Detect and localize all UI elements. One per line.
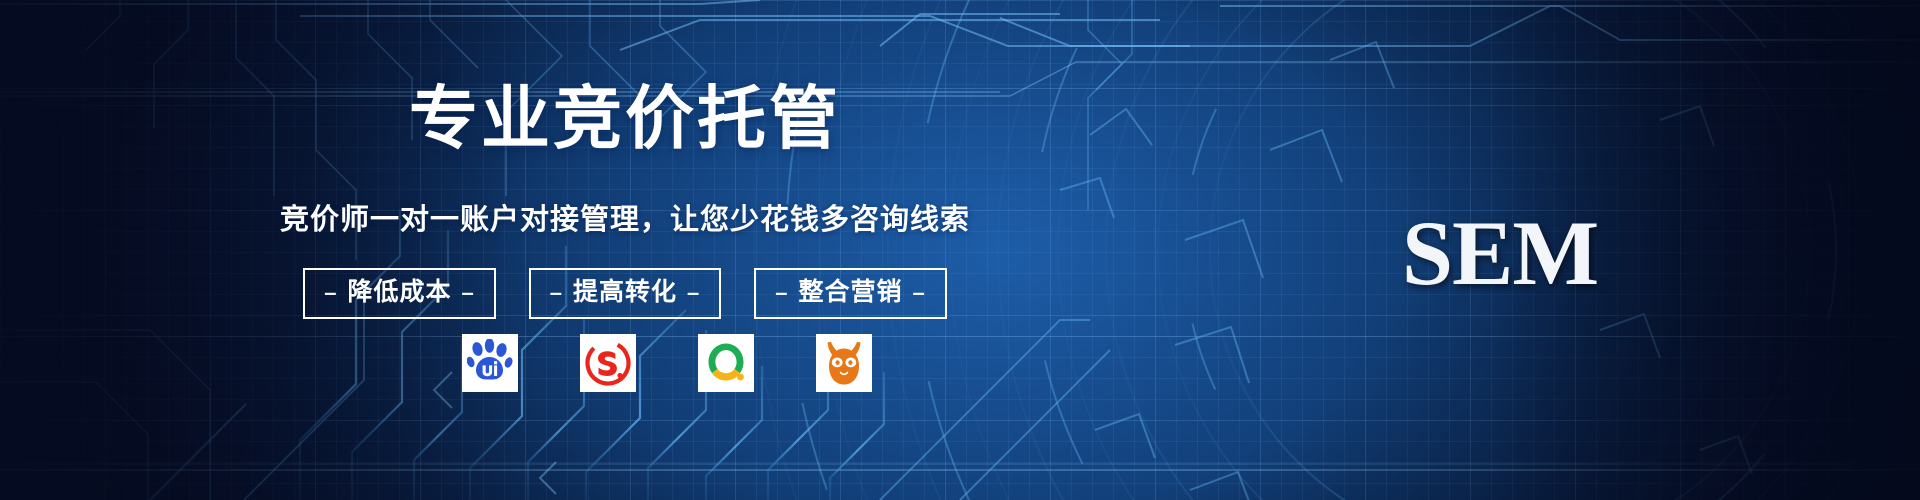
dash-left-icon: – [775, 280, 788, 305]
badge-reduce-cost[interactable]: – 降低成本 – [303, 268, 496, 319]
dash-right-icon: – [687, 280, 700, 305]
baidu-logo-tile[interactable] [462, 334, 518, 392]
badge-label: 降低成本 [347, 278, 451, 307]
badge-integrated-marketing[interactable]: – 整合营销 – [754, 268, 947, 319]
shenma-logo-tile[interactable] [816, 334, 872, 392]
sem-hosting-banner: 专业竞价托管 竞价师一对一账户对接管理，让您少花钱多咨询线索 – 降低成本 – … [0, 0, 1920, 500]
banner-subtitle: 竞价师一对一账户对接管理，让您少花钱多咨询线索 [0, 196, 1250, 238]
baidu-logo-icon [467, 339, 513, 387]
sogou-logo-tile[interactable] [580, 334, 636, 392]
badge-label: 提高转化 [573, 278, 677, 307]
so360-logo-icon [704, 340, 748, 386]
banner-title: 专业竞价托管 [0, 62, 1250, 162]
dash-right-icon: – [913, 280, 926, 305]
so360-logo-tile[interactable] [698, 334, 754, 392]
search-platform-logo-group [0, 334, 1250, 392]
sem-wordmark: SEM [1370, 200, 1630, 306]
sogou-logo-icon [585, 340, 631, 386]
badge-improve-conversion[interactable]: – 提高转化 – [529, 268, 722, 319]
shenma-logo-icon [822, 339, 866, 387]
benefit-badge-group: – 降低成本 – – 提高转化 – – 整合营销 – [0, 268, 1250, 319]
badge-label: 整合营销 [799, 278, 903, 307]
banner-content: 专业竞价托管 竞价师一对一账户对接管理，让您少花钱多咨询线索 – 降低成本 – … [0, 0, 1920, 500]
dash-right-icon: – [461, 280, 474, 305]
dash-left-icon: – [324, 280, 337, 305]
dash-left-icon: – [550, 280, 563, 305]
